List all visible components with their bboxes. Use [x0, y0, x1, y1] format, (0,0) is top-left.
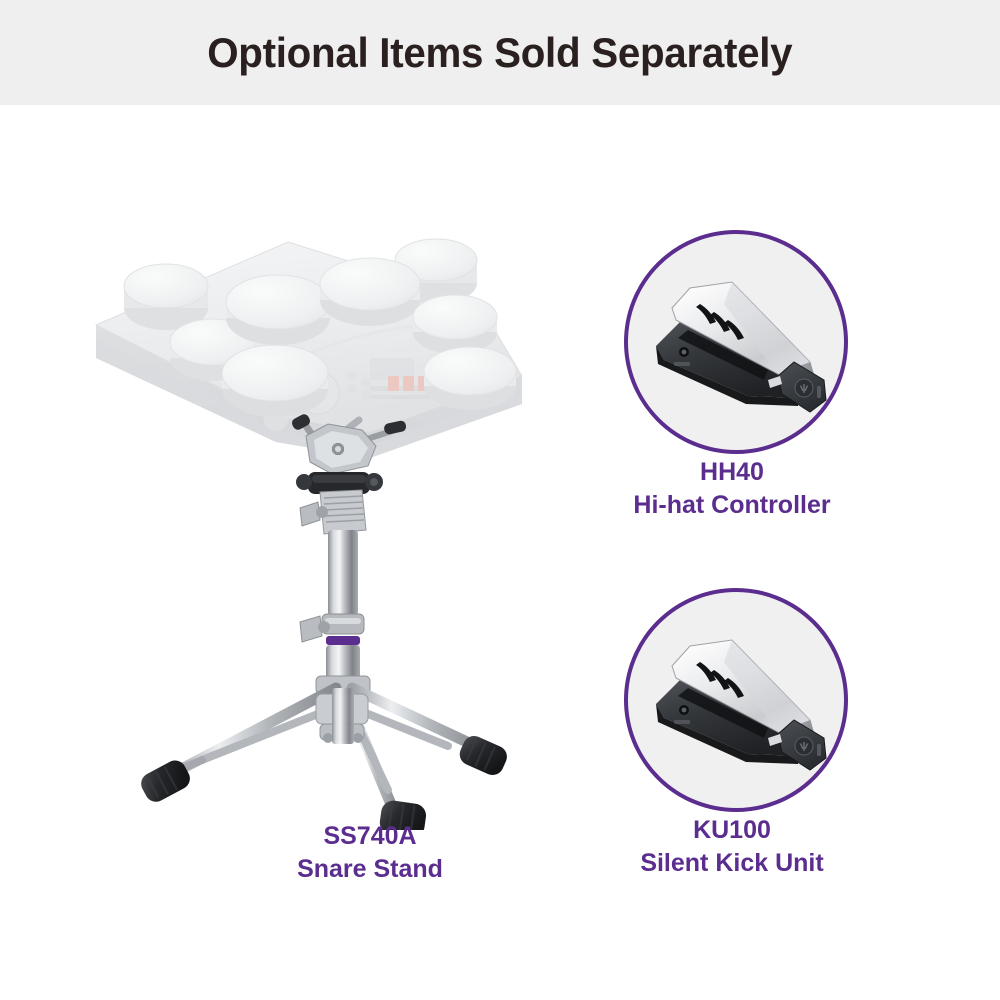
snare-stand-product-illustration [70, 190, 540, 830]
product-name-hh40: Hi-hat Controller [552, 489, 912, 522]
product-name-ss740a: Snare Stand [170, 853, 570, 886]
product-caption-ss740a: SS740A Snare Stand [170, 820, 570, 885]
badge-circle-hh40 [624, 230, 848, 454]
product-callout-page: Optional Items Sold Separately [0, 0, 1000, 1000]
product-model-ss740a: SS740A [170, 820, 570, 853]
product-caption-hh40: HH40 Hi-hat Controller [552, 456, 912, 521]
rubber-feet [137, 732, 510, 830]
product-caption-ku100: KU100 Silent Kick Unit [552, 814, 912, 879]
badge-circle-ku100 [624, 588, 848, 812]
product-model-hh40: HH40 [552, 456, 912, 489]
snare-stand-hardware [137, 412, 510, 830]
snare-stand-icon [70, 190, 540, 830]
header-band: Optional Items Sold Separately [0, 0, 1000, 105]
silent-kick-unit-pedal-icon [628, 592, 844, 808]
product-badge-ku100[interactable]: KU100 Silent Kick Unit [624, 588, 840, 804]
product-model-ku100: KU100 [552, 814, 912, 847]
purple-accent-ring [326, 636, 360, 645]
page-title: Optional Items Sold Separately [207, 32, 792, 74]
product-badge-hh40[interactable]: HH40 Hi-hat Controller [624, 230, 840, 446]
product-name-ku100: Silent Kick Unit [552, 847, 912, 880]
hi-hat-controller-pedal-icon [628, 234, 844, 450]
